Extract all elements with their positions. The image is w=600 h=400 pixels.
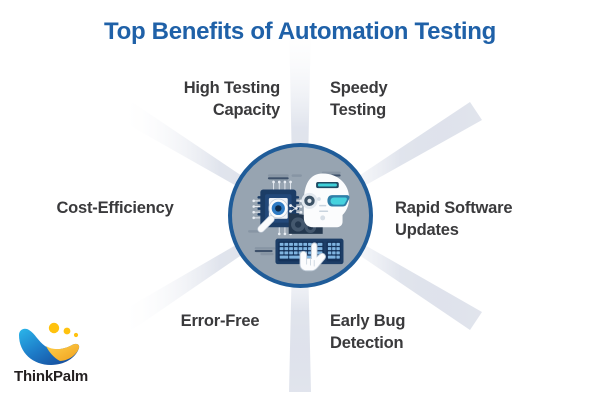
benefit-label-high-testing-capacity: High Testing Capacity — [130, 78, 280, 122]
page-title: Top Benefits of Automation Testing — [0, 18, 600, 46]
benefit-label-early-bug-detection: Early Bug Detection — [330, 311, 490, 355]
logo: ThinkPalm — [14, 320, 114, 390]
benefit-label-speedy-testing: Speedy Testing — [330, 78, 490, 122]
benefit-label-rapid-software-updates: Rapid Software Updates — [395, 198, 565, 242]
center-circle — [228, 143, 373, 288]
benefit-label-cost-efficiency: Cost-Efficiency — [25, 198, 205, 220]
benefit-label-error-free: Error-Free — [150, 311, 290, 333]
infographic-canvas: Top Benefits of Automation Testing High … — [0, 0, 600, 400]
automation-testing-illustration — [232, 147, 369, 284]
logo-text: ThinkPalm — [14, 368, 114, 385]
thinkpalm-logo-icon — [16, 320, 86, 366]
